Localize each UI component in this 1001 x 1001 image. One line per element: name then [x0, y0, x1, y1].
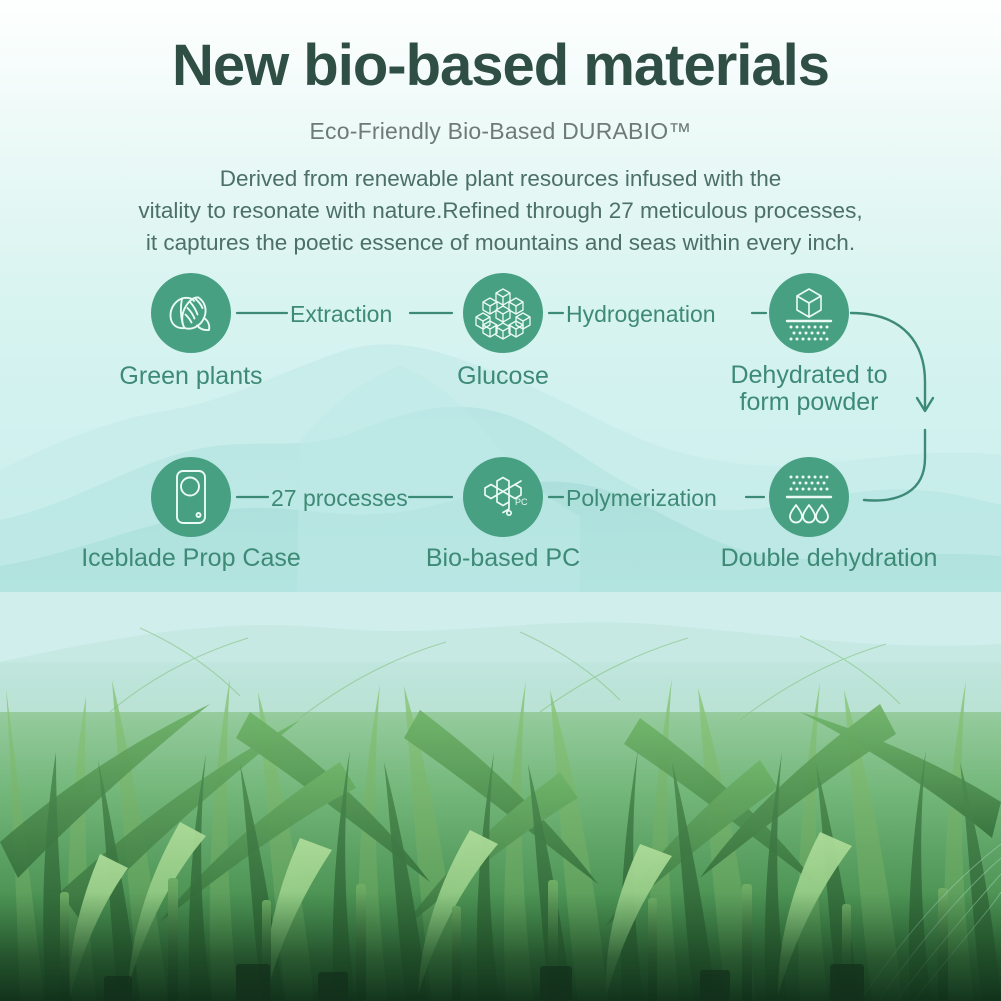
label-line-1: Dehydrated to [730, 361, 887, 389]
flow-node-dehydrated-powder[interactable] [769, 273, 849, 353]
molecule-tag-text: PC [515, 497, 528, 507]
sugarcane-grass-illustration [0, 592, 1001, 1001]
sugar-cubes-icon [463, 273, 543, 353]
pc-molecule-icon: PC [463, 457, 543, 537]
flow-node-bio-based-pc[interactable]: PC [463, 457, 543, 537]
flow-connector-label-polymerization: Polymerization [566, 485, 717, 512]
flow-node-label-bio-based-pc: Bio-based PC [383, 544, 623, 572]
flow-node-double-dehydration[interactable] [769, 457, 849, 537]
flow-node-label-green-plants: Green plants [51, 362, 331, 390]
phone-case-icon [151, 457, 231, 537]
cube-powder-icon [769, 273, 849, 353]
flow-node-glucose[interactable] [463, 273, 543, 353]
process-flow-diagram: Green plants [0, 0, 1001, 620]
flow-node-label-double-dehydration: Double dehydration [659, 544, 999, 572]
label-line-2: form powder [740, 388, 879, 416]
infographic-page: New bio-based materials Eco-Friendly Bio… [0, 0, 1001, 1001]
flow-connector-label-hydrogenation: Hydrogenation [566, 301, 716, 328]
flow-node-iceblade-prop-case[interactable] [151, 457, 231, 537]
flow-node-label-iceblade-prop-case: Iceblade Prop Case [41, 544, 341, 572]
flow-node-label-dehydrated-powder: Dehydrated to form powder [689, 362, 929, 416]
flow-node-label-glucose: Glucose [383, 362, 623, 390]
flow-connector-label-extraction: Extraction [290, 301, 392, 328]
powder-droplets-icon [769, 457, 849, 537]
flow-connector-label-27-processes: 27 processes [271, 485, 408, 512]
sugarcane-field-photo [0, 592, 1001, 1001]
corn-icon [151, 273, 231, 353]
flow-node-green-plants[interactable] [151, 273, 231, 353]
